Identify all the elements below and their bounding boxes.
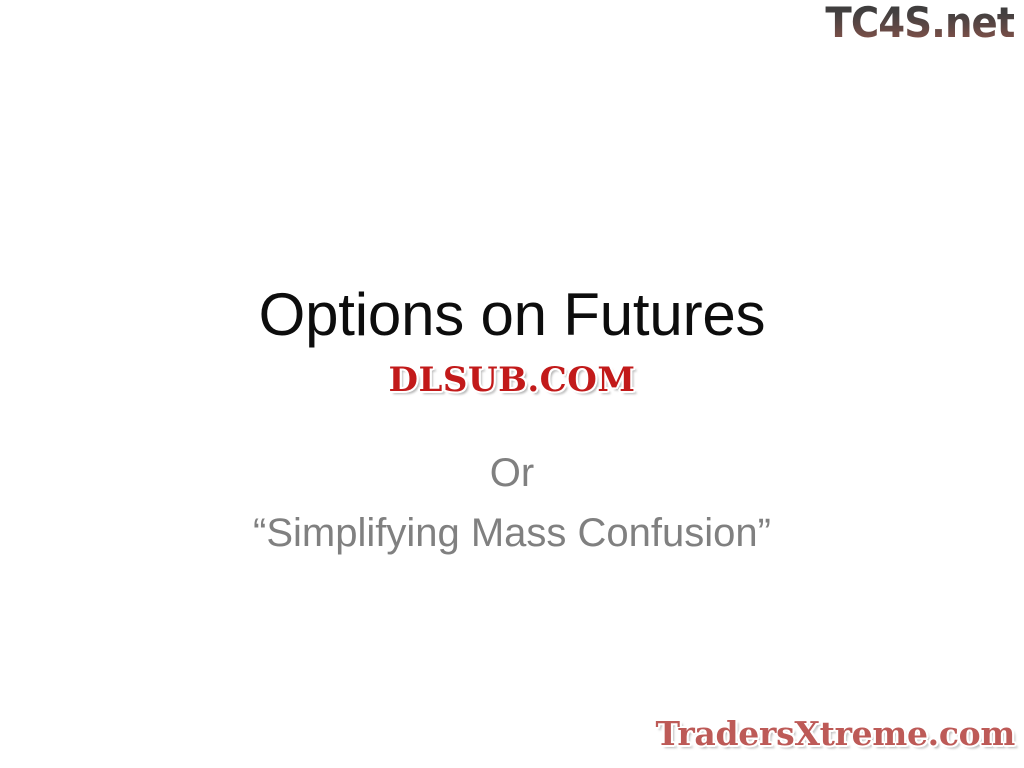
watermark-tc4s-net: TC4S.net (825, 0, 1014, 46)
subtitle-block: Or “Simplifying Mass Confusion” (0, 443, 1024, 563)
watermark-dlsub-com: DLSUB.COM (389, 360, 636, 400)
page-title: Options on Futures (0, 283, 1024, 348)
title-block: Options on Futures (0, 283, 1024, 348)
watermark-tradersxtreme-com: TradersXtreme.com (655, 714, 1015, 754)
presentation-slide: TC4S.net Options on Futures DLSUB.COM Or… (0, 0, 1024, 768)
subtitle-line-2: “Simplifying Mass Confusion” (0, 503, 1024, 563)
subtitle-line-1: Or (0, 443, 1024, 503)
